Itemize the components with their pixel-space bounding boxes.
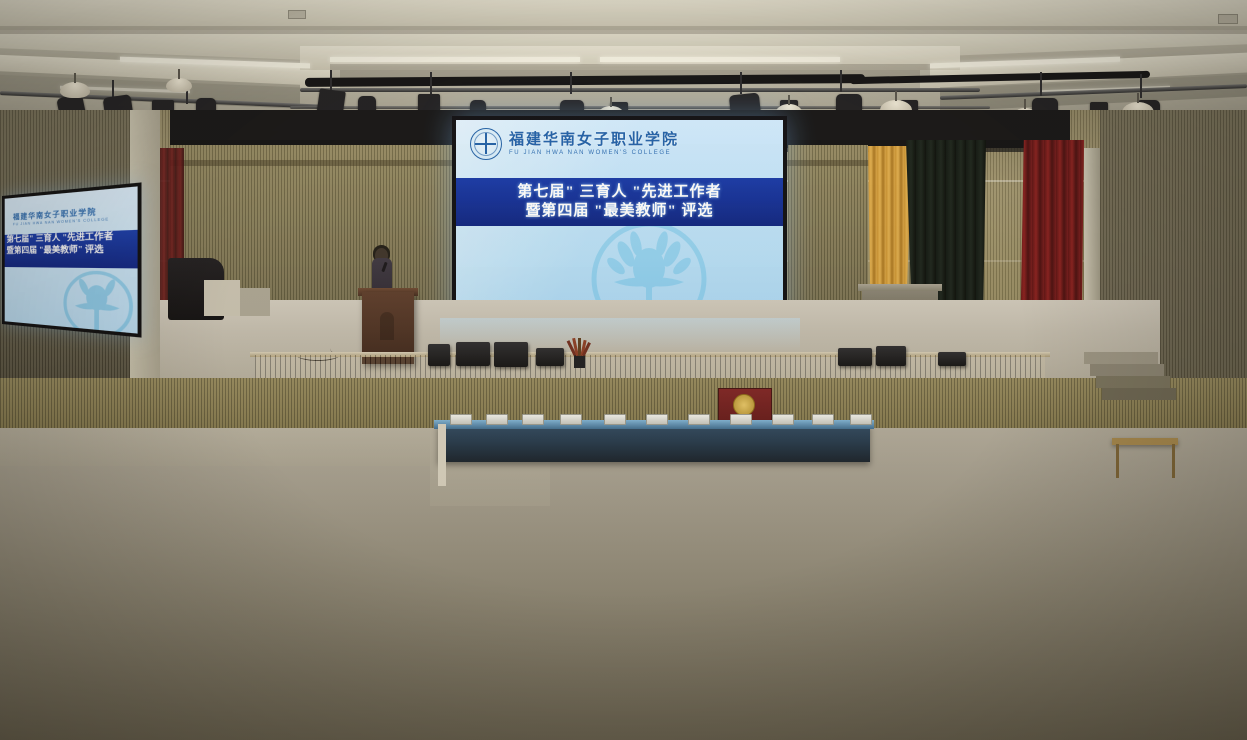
stage-monitor-speaker [428, 344, 450, 366]
stage-riser-top [858, 284, 942, 291]
ceiling-vent [288, 10, 306, 19]
dome-house-light [60, 82, 90, 98]
stage-monitor-speaker [536, 348, 564, 366]
school-name-cn: 福建华南女子职业学院 [509, 133, 679, 148]
side-tree-watermark-icon [60, 270, 138, 334]
auditorium-scene-photo: 福建华南女子职业学院 FU JIAN HWA NAN WOMEN'S COLLE… [0, 0, 1247, 740]
side-stairs [1090, 364, 1164, 376]
stage-box-object [240, 288, 270, 316]
audience-seating: 8-0108-0148-0108-0148-0108-0148-0108-014… [0, 378, 1247, 740]
side-stairs [1084, 352, 1158, 364]
stage-monitor-speaker [938, 352, 966, 366]
stage-box-object [204, 280, 240, 316]
podium-emblem [380, 312, 394, 340]
school-name-en: FU JIAN HWA NAN WOMEN'S COLLEGE [509, 150, 679, 156]
stage-monitor-speaker [876, 346, 906, 366]
stage-monitor-speaker [456, 342, 490, 366]
side-title-band: 第七届" 三育人 "先进工作者 暨第四届 "最美教师" 评选 [5, 230, 138, 269]
potted-plant [568, 340, 590, 368]
led-presentation-screen[interactable]: 福建华南女子职业学院 FU JIAN HWA NAN WOMEN'S COLLE… [452, 116, 787, 321]
event-title-line-2: 暨第四届 "最美教师" 评选 [525, 202, 713, 221]
event-title-line-1: 第七届" 三育人 "先进工作者 [517, 183, 721, 202]
side-title-line-2: 暨第四届 "最美教师" 评选 [5, 243, 138, 257]
dome-house-light [166, 78, 192, 92]
school-logo-row: 福建华南女子职业学院 FU JIAN HWA NAN WOMEN'S COLLE… [470, 128, 773, 160]
stage-monitor-speaker [838, 348, 872, 366]
side-wall-monitor[interactable]: 福建华南女子职业学院 FU JIAN HWA NAN WOMEN'S COLLE… [2, 182, 142, 337]
side-monitor-surface: 福建华南女子职业学院 FU JIAN HWA NAN WOMEN'S COLLE… [5, 186, 138, 333]
stage-monitor-speaker [494, 342, 528, 367]
event-title-band: 第七届" 三育人 "先进工作者 暨第四届 "最美教师" 评选 [456, 178, 783, 226]
school-crest-icon [470, 128, 502, 160]
screen-surface: 福建华南女子职业学院 FU JIAN HWA NAN WOMEN'S COLLE… [456, 120, 783, 317]
stage-back-wall-right [788, 145, 868, 320]
ceiling-vent [1218, 14, 1238, 24]
